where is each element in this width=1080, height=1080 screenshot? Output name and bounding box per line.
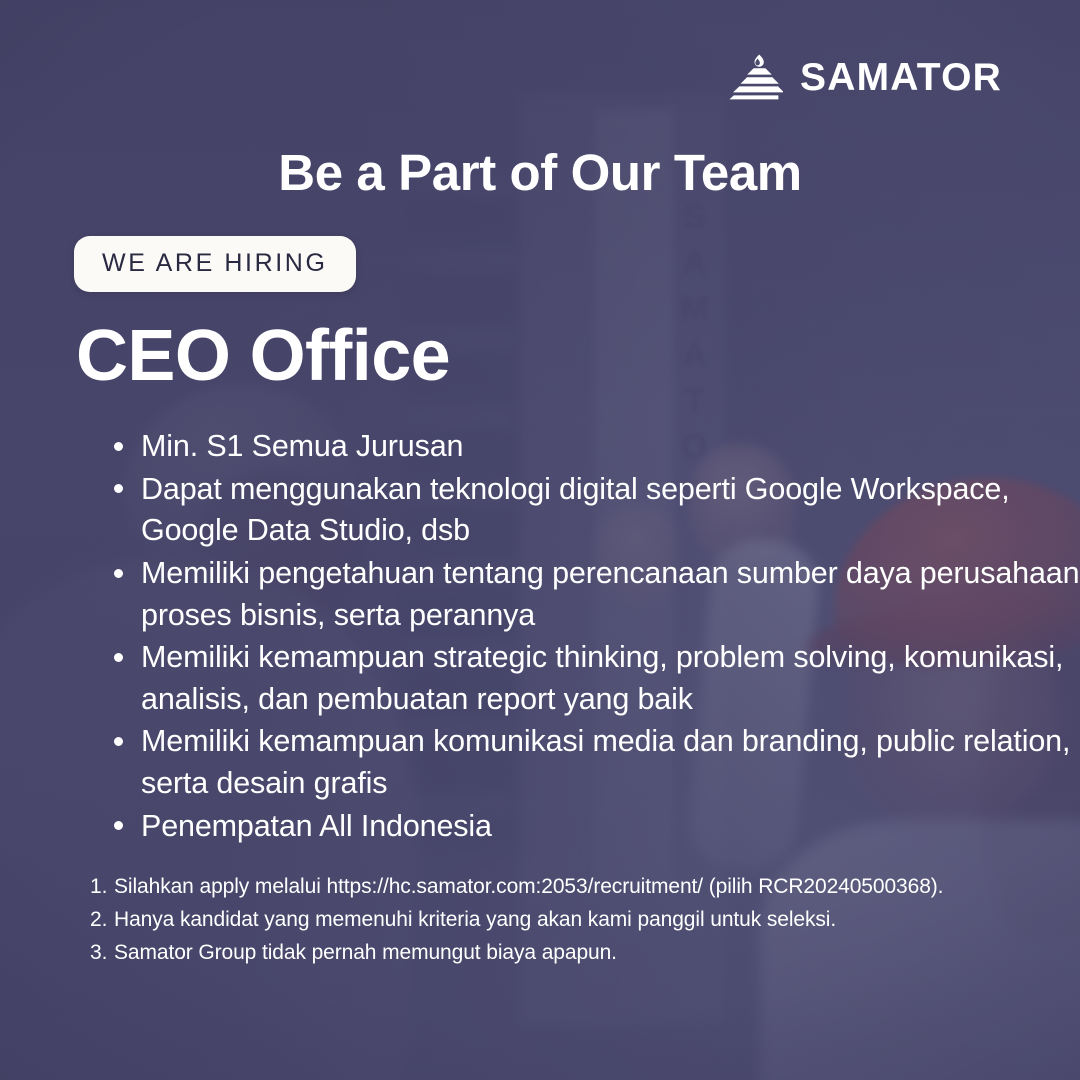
note-number: 1. [90,872,112,902]
bullet-icon [114,737,123,746]
note-text: Samator Group tidak pernah memungut biay… [114,941,617,964]
samator-wordmark: SAMATOR [800,58,1002,97]
samator-logo: SAMATOR [729,52,1002,102]
requirement-text: Memiliki kemampuan strategic thinking, p… [141,640,1063,716]
list-item: 3.Samator Group tidak pernah memungut bi… [90,938,1000,968]
poster-content: SAMATOR Be a Part of Our Team WE ARE HIR… [0,0,1080,1080]
list-item: Memiliki pengetahuan tentang perencanaan… [108,553,1080,636]
recruitment-poster: S A M A T O R [0,0,1080,1080]
list-item: Penempatan All Indonesia [108,806,1080,848]
list-item: Dapat menggunakan teknologi digital sepe… [108,469,1080,552]
list-item: 1.Silahkan apply melalui https://hc.sama… [90,872,1000,902]
requirement-text: Dapat menggunakan teknologi digital sepe… [141,472,1010,548]
list-item: 2.Hanya kandidat yang memenuhi kriteria … [90,905,1000,935]
bullet-icon [114,653,123,662]
list-item: Min. S1 Semua Jurusan [108,426,1080,468]
note-number: 3. [90,938,112,968]
bullet-icon [114,484,123,493]
note-text: Silahkan apply melalui https://hc.samato… [114,875,943,898]
list-item: Memiliki kemampuan komunikasi media dan … [108,721,1080,804]
note-number: 2. [90,905,112,935]
requirement-text: Memiliki pengetahuan tentang perencanaan… [141,556,1080,632]
list-item: Memiliki kemampuan strategic thinking, p… [108,637,1080,720]
requirement-text: Min. S1 Semua Jurusan [141,429,463,463]
requirements-list: Min. S1 Semua Jurusan Dapat menggunakan … [108,426,1080,848]
samator-flame-stack-icon [729,52,783,102]
application-notes-list: 1.Silahkan apply melalui https://hc.sama… [90,872,1000,971]
requirement-text: Penempatan All Indonesia [141,809,492,843]
note-text: Hanya kandidat yang memenuhi kriteria ya… [114,908,836,931]
status-badge: WE ARE HIRING [74,236,356,292]
bullet-icon [114,442,123,451]
bullet-icon [114,569,123,578]
requirement-text: Memiliki kemampuan komunikasi media dan … [141,724,1070,800]
page-title: Be a Part of Our Team [0,143,1080,202]
job-position-title: CEO Office [76,316,450,397]
status-badge-label: WE ARE HIRING [102,251,328,276]
bullet-icon [114,821,123,830]
